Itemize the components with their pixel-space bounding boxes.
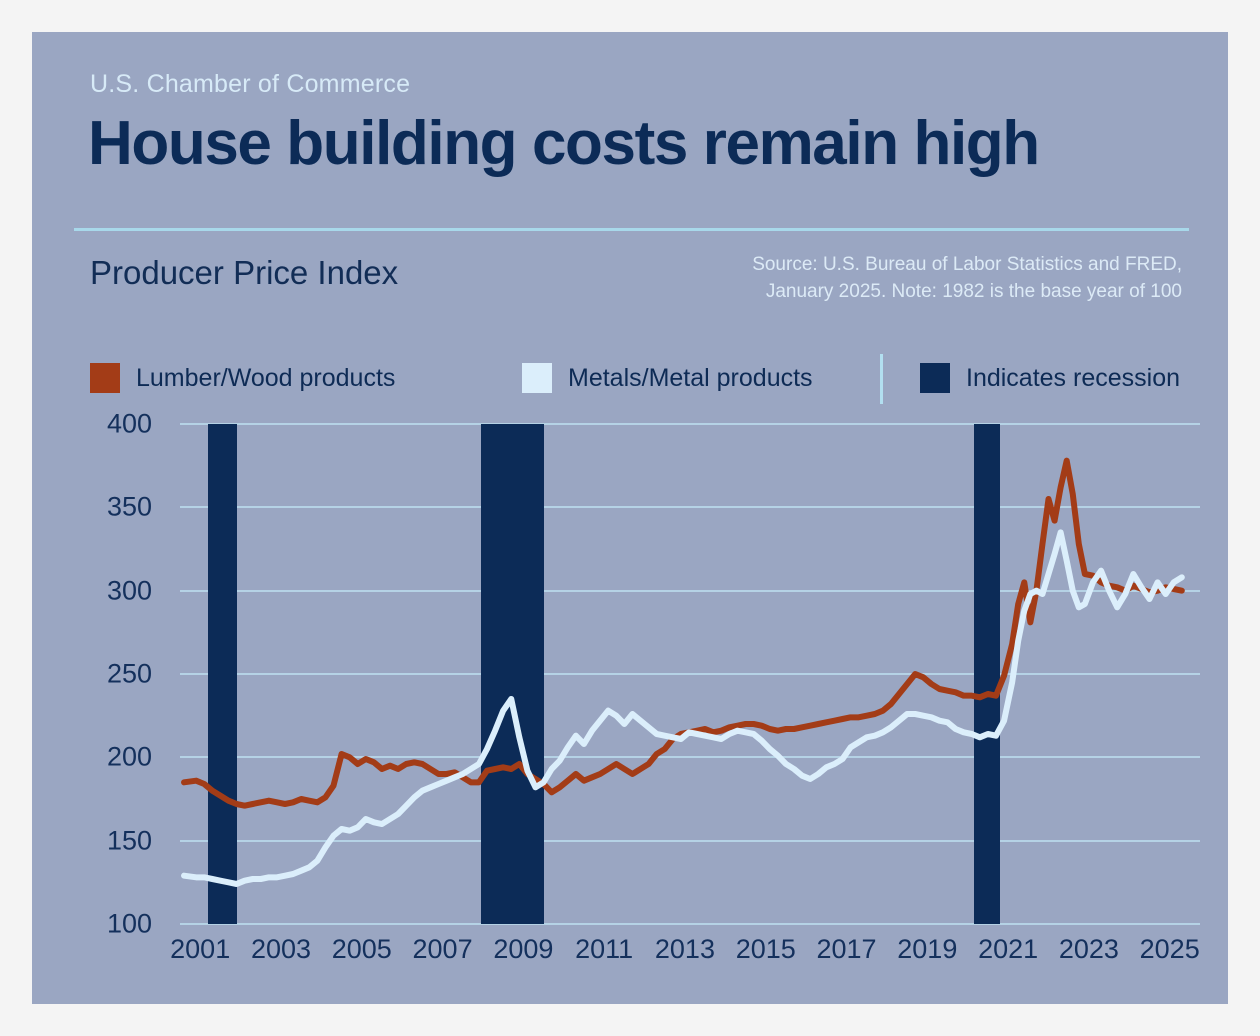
chart-plot-area: 100150200250300350400 200120032005200720… <box>90 424 1200 974</box>
chart-subtitle: Producer Price Index <box>90 254 398 292</box>
metals-swatch-icon <box>522 363 552 393</box>
page-title: House building costs remain high <box>88 112 1039 176</box>
x-tick-label: 2003 <box>251 934 311 965</box>
x-tick-label: 2025 <box>1140 934 1200 965</box>
plot-panel <box>180 424 1200 924</box>
brand-kicker: U.S. Chamber of Commerce <box>90 70 410 99</box>
legend-divider <box>880 354 883 404</box>
series-line <box>184 532 1182 884</box>
x-tick-label: 2021 <box>978 934 1038 965</box>
y-tick-label: 150 <box>107 825 152 856</box>
x-tick-label: 2001 <box>170 934 230 965</box>
legend-label-metals: Metals/Metal products <box>568 364 813 393</box>
x-tick-label: 2019 <box>897 934 957 965</box>
lumber-swatch-icon <box>90 363 120 393</box>
x-tick-label: 2009 <box>493 934 553 965</box>
x-tick-label: 2007 <box>413 934 473 965</box>
legend-label-recession: Indicates recession <box>966 364 1180 393</box>
x-tick-label: 2017 <box>816 934 876 965</box>
y-tick-label: 350 <box>107 492 152 523</box>
y-tick-label: 300 <box>107 575 152 606</box>
y-tick-label: 250 <box>107 659 152 690</box>
y-tick-label: 100 <box>107 909 152 940</box>
y-tick-label: 400 <box>107 409 152 440</box>
header-divider <box>74 228 1189 231</box>
series-line <box>184 461 1182 806</box>
x-tick-label: 2023 <box>1059 934 1119 965</box>
source-note: Source: U.S. Bureau of Labor Statistics … <box>752 252 1182 306</box>
x-tick-label: 2015 <box>736 934 796 965</box>
legend-item-recession[interactable]: Indicates recession <box>920 350 1180 406</box>
chart-card: U.S. Chamber of Commerce House building … <box>32 32 1228 1004</box>
y-tick-label: 200 <box>107 742 152 773</box>
x-tick-label: 2011 <box>575 934 633 965</box>
x-tick-label: 2013 <box>655 934 715 965</box>
series-lines <box>180 424 1200 924</box>
x-axis: 2001200320052007200920112013201520172019… <box>180 930 1200 974</box>
legend-label-lumber: Lumber/Wood products <box>136 364 395 393</box>
y-axis: 100150200250300350400 <box>90 424 152 924</box>
chart-legend: Lumber/Wood products Metals/Metal produc… <box>90 350 1200 406</box>
legend-item-metals[interactable]: Metals/Metal products <box>522 350 813 406</box>
recession-swatch-icon <box>920 363 950 393</box>
x-tick-label: 2005 <box>332 934 392 965</box>
legend-item-lumber[interactable]: Lumber/Wood products <box>90 350 395 406</box>
